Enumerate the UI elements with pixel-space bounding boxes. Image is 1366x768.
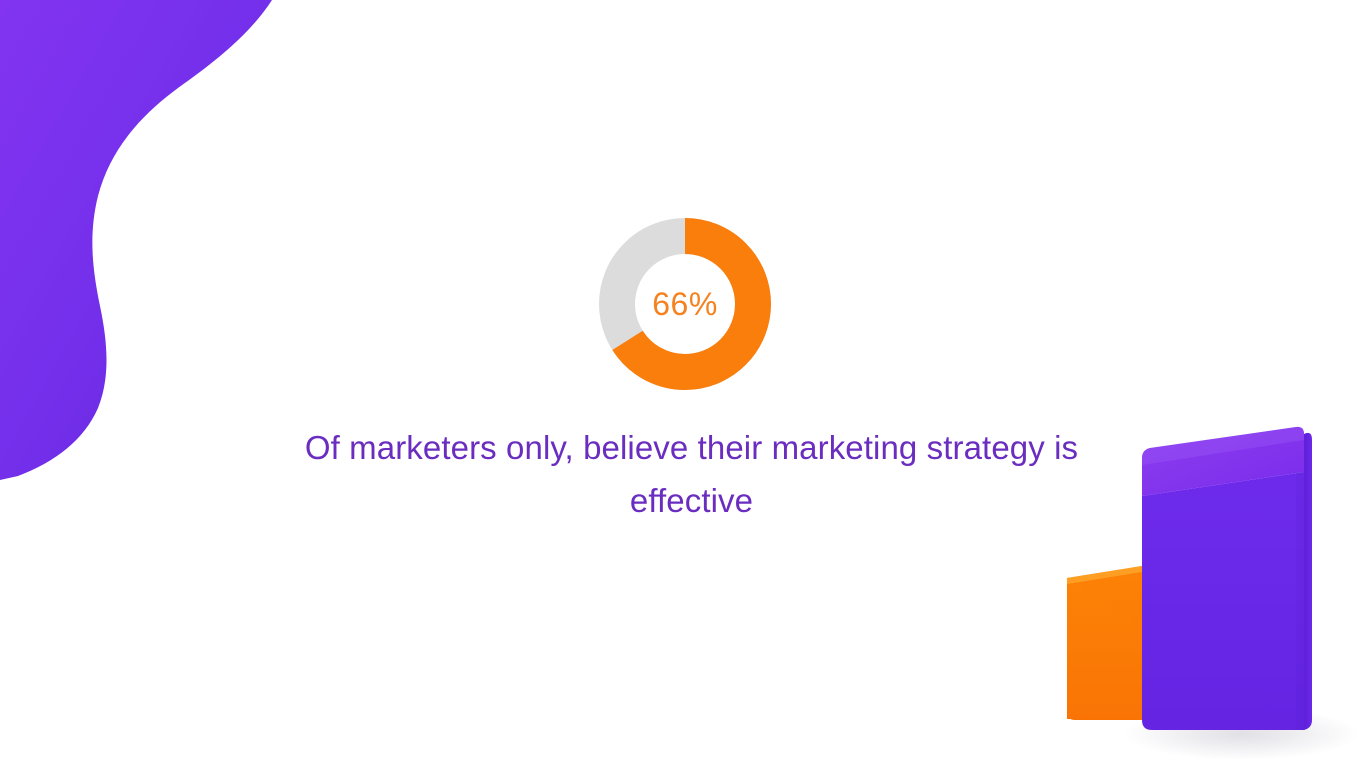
purple-bar-side-face	[1304, 433, 1312, 730]
purple-bar-top-face	[1142, 427, 1304, 496]
bar-chart-3d-svg	[1046, 412, 1366, 768]
purple-bar-top-highlight	[1142, 427, 1304, 465]
orange-bar-top-highlight	[1067, 566, 1142, 584]
purple-bar-corner-shade	[1296, 472, 1304, 730]
purple-bar-front-face	[1142, 458, 1304, 730]
bar-chart-shadow	[1124, 708, 1360, 760]
orange-bar-front-face	[1067, 566, 1142, 720]
orange-bar-left-face	[1067, 578, 1142, 720]
bar-chart-3d	[1046, 412, 1366, 768]
purple-blob-shape	[0, 0, 300, 480]
orange-bar-top-face	[1067, 566, 1142, 640]
purple-bar	[1142, 427, 1312, 730]
donut-chart: 66%	[598, 217, 772, 391]
orange-bar	[1067, 566, 1142, 720]
purple-blob-decoration	[0, 0, 300, 480]
donut-center-value: 66%	[598, 217, 772, 391]
headline-caption: Of marketers only, believe their marketi…	[303, 421, 1080, 528]
slide-canvas: 66% Of marketers only, believe their mar…	[0, 0, 1366, 768]
